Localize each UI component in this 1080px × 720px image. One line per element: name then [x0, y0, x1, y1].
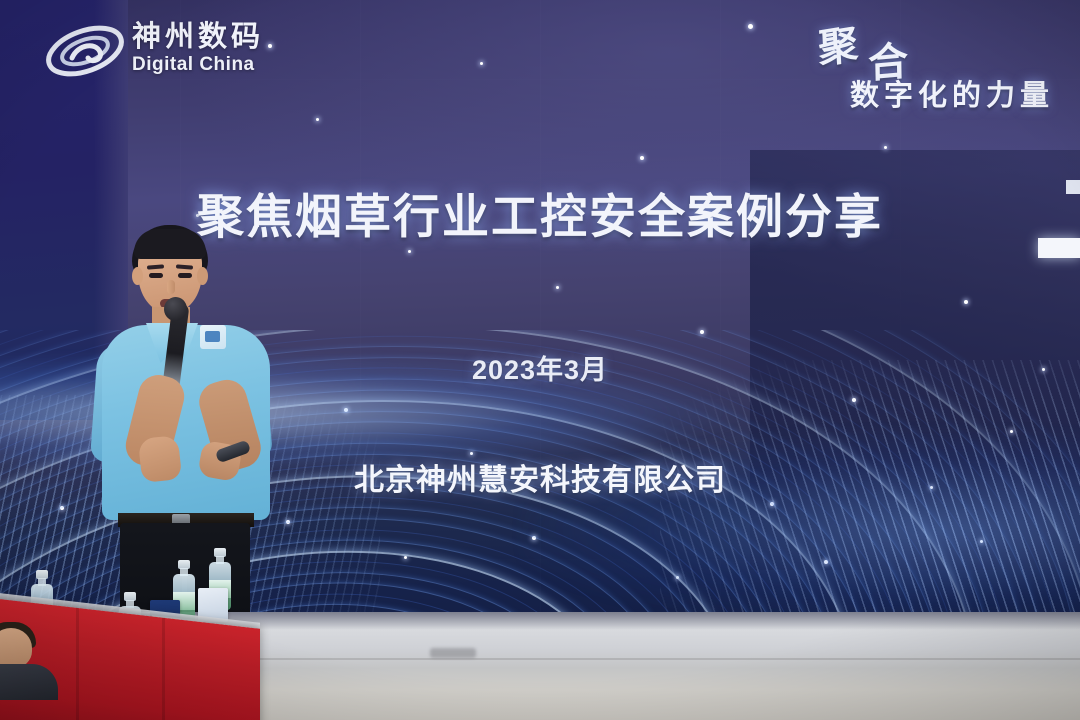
particle-dot	[748, 24, 753, 29]
calligraphy-char-1: 聚	[817, 11, 860, 75]
speaker-hand-left	[138, 435, 182, 483]
event-calligraphy: 聚 合	[814, 16, 944, 78]
particle-dot	[884, 146, 887, 149]
digital-china-logo: 神州数码 Digital China	[44, 18, 294, 90]
event-logo: 聚 合 数字化的力量	[796, 16, 1056, 122]
digital-china-wordmark: 神州数码 Digital China	[132, 22, 264, 76]
particle-dot	[640, 156, 644, 160]
table-fold	[162, 618, 165, 720]
speaker-ear-right	[197, 267, 208, 285]
seated-attendee	[0, 628, 62, 688]
brand-name-cn: 神州数码	[132, 22, 264, 52]
particle-dot	[316, 118, 319, 121]
speaker-nose	[167, 280, 175, 294]
particle-dot	[408, 250, 411, 253]
brand-name-en: Digital China	[132, 54, 264, 76]
table-fold	[76, 608, 79, 720]
speaker	[88, 225, 278, 615]
speaker-eye-left	[149, 273, 163, 278]
speaker-ear-left	[132, 267, 143, 285]
swirl-galaxy-icon	[44, 20, 126, 82]
event-tagline: 数字化的力量	[850, 72, 1054, 114]
stage-floor-mark	[430, 648, 476, 658]
particle-dot	[964, 300, 968, 304]
shirt-logo-badge	[200, 325, 226, 349]
speaker-eye-right	[178, 273, 192, 278]
conference-photo: 神州数码 Digital China 聚 合 数字化的力量 聚焦烟草行业工控安全…	[0, 0, 1080, 720]
speaker-hair-front	[134, 229, 206, 259]
particle-dot	[480, 62, 483, 65]
attendee-shoulders	[0, 664, 58, 700]
particle-dot	[556, 286, 559, 289]
